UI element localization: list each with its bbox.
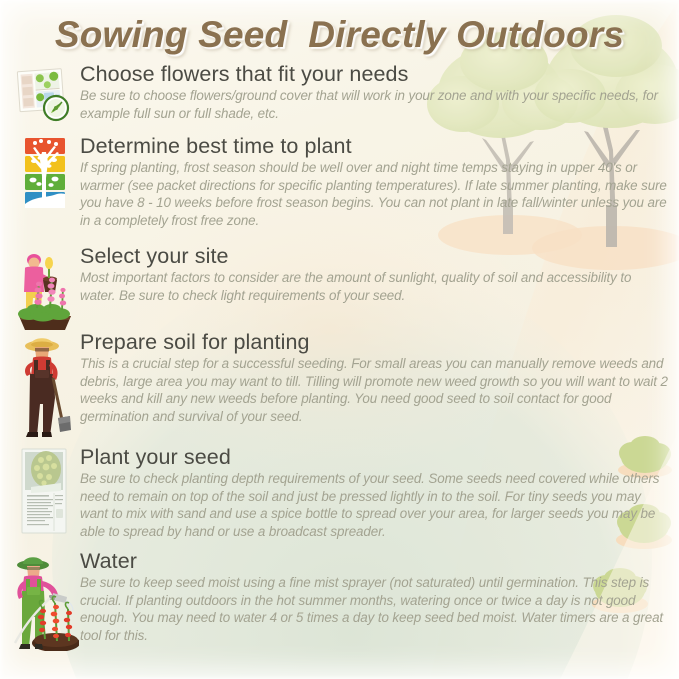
gardener-planting-flowerbed-icon (8, 244, 80, 332)
garden-plan-map-icon (8, 62, 80, 126)
step-text: Choose flowers that fit your needs Be su… (80, 62, 679, 122)
seed-packet-icon (8, 445, 80, 535)
step-body: Most important factors to consider are t… (80, 269, 669, 304)
step-body: Be sure to check planting depth requirem… (80, 470, 669, 541)
step-text: Prepare soil for planting This is a cruc… (80, 330, 679, 426)
steps-list: Choose flowers that fit your needs Be su… (0, 62, 679, 669)
step-body: If spring planting, frost season should … (80, 159, 669, 230)
step-item: Water Be sure to keep seed moist using a… (0, 549, 679, 669)
step-item: Prepare soil for planting This is a cruc… (0, 330, 679, 445)
gardener-watering-hose-icon (8, 549, 80, 651)
step-text: Select your site Most important factors … (80, 244, 679, 304)
step-heading: Water (80, 549, 669, 573)
step-item: Choose flowers that fit your needs Be su… (0, 62, 679, 134)
step-text: Water Be sure to keep seed moist using a… (80, 549, 679, 645)
step-text: Determine best time to plant If spring p… (80, 134, 679, 230)
step-heading: Prepare soil for planting (80, 330, 669, 354)
step-body: Be sure to choose flowers/ground cover t… (80, 87, 669, 122)
step-heading: Determine best time to plant (80, 134, 669, 158)
step-heading: Plant your seed (80, 445, 669, 469)
step-heading: Select your site (80, 244, 669, 268)
poster-title-area: Sowing Seed Directly Outdoors (0, 14, 679, 56)
step-text: Plant your seed Be sure to check plantin… (80, 445, 679, 541)
farmer-with-shovel-icon (8, 330, 80, 438)
page-title: Sowing Seed Directly Outdoors (55, 14, 624, 56)
step-item: Select your site Most important factors … (0, 244, 679, 330)
step-item: Determine best time to plant If spring p… (0, 134, 679, 244)
infographic-poster: Sowing Seed Directly Outdoors (0, 0, 679, 679)
step-body: This is a crucial step for a successful … (80, 355, 669, 426)
step-item: Plant your seed Be sure to check plantin… (0, 445, 679, 549)
step-body: Be sure to keep seed moist using a fine … (80, 574, 669, 645)
four-seasons-tree-icon (8, 134, 80, 214)
step-heading: Choose flowers that fit your needs (80, 62, 669, 86)
